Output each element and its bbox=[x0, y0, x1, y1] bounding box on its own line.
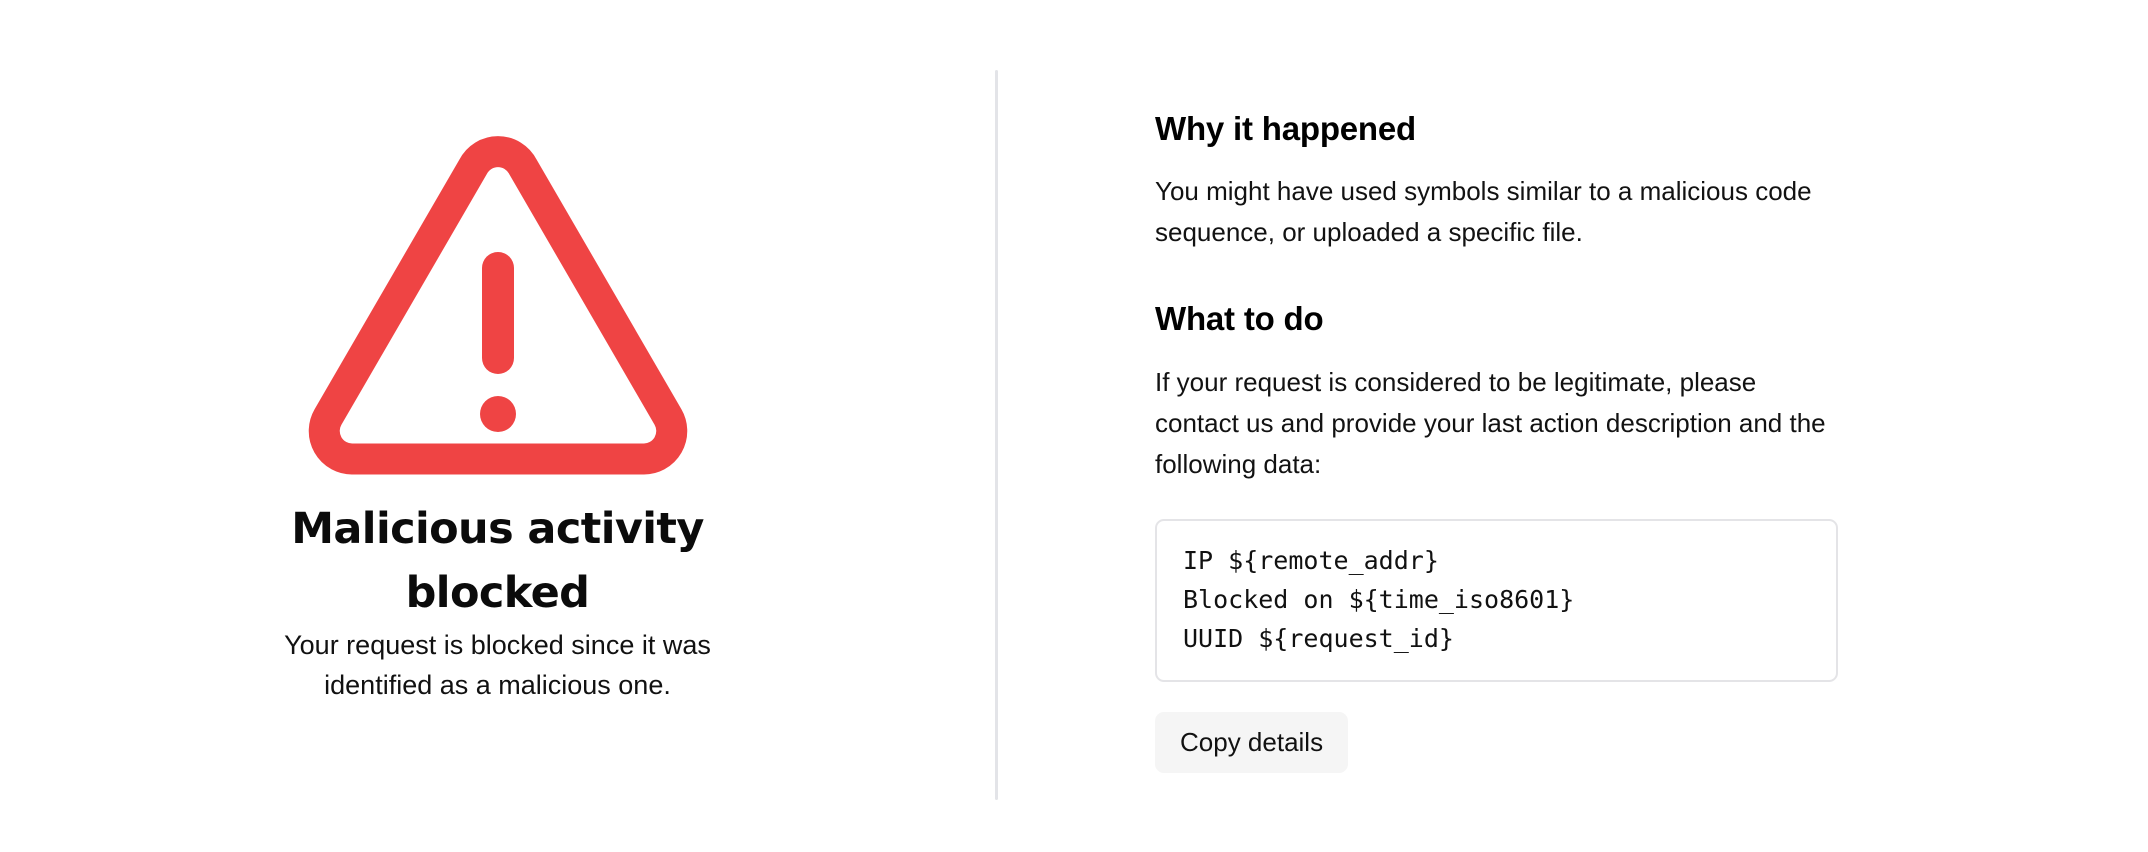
detail-line-ip: IP ${remote_addr} bbox=[1183, 541, 1810, 580]
what-to-do-heading: What to do bbox=[1155, 298, 1915, 340]
copy-details-button[interactable]: Copy details bbox=[1155, 712, 1348, 773]
right-panel: Why it happened You might have used symb… bbox=[1155, 0, 1915, 852]
page-title: Malicious activity blocked bbox=[263, 497, 733, 625]
detail-line-blocked: Blocked on ${time_iso8601} bbox=[1183, 580, 1810, 619]
request-details-box: IP ${remote_addr} Blocked on ${time_iso8… bbox=[1155, 519, 1838, 682]
detail-line-uuid: UUID ${request_id} bbox=[1183, 619, 1810, 658]
why-it-happened-heading: Why it happened bbox=[1155, 108, 1915, 150]
what-to-do-body: If your request is considered to be legi… bbox=[1155, 362, 1845, 485]
blocked-page: Malicious activity blocked Your request … bbox=[0, 0, 2148, 852]
warning-triangle-icon bbox=[288, 132, 708, 497]
page-subtitle: Your request is blocked since it was ide… bbox=[263, 625, 733, 705]
vertical-divider bbox=[995, 70, 998, 800]
left-panel: Malicious activity blocked Your request … bbox=[0, 0, 995, 852]
why-it-happened-body: You might have used symbols similar to a… bbox=[1155, 171, 1845, 253]
